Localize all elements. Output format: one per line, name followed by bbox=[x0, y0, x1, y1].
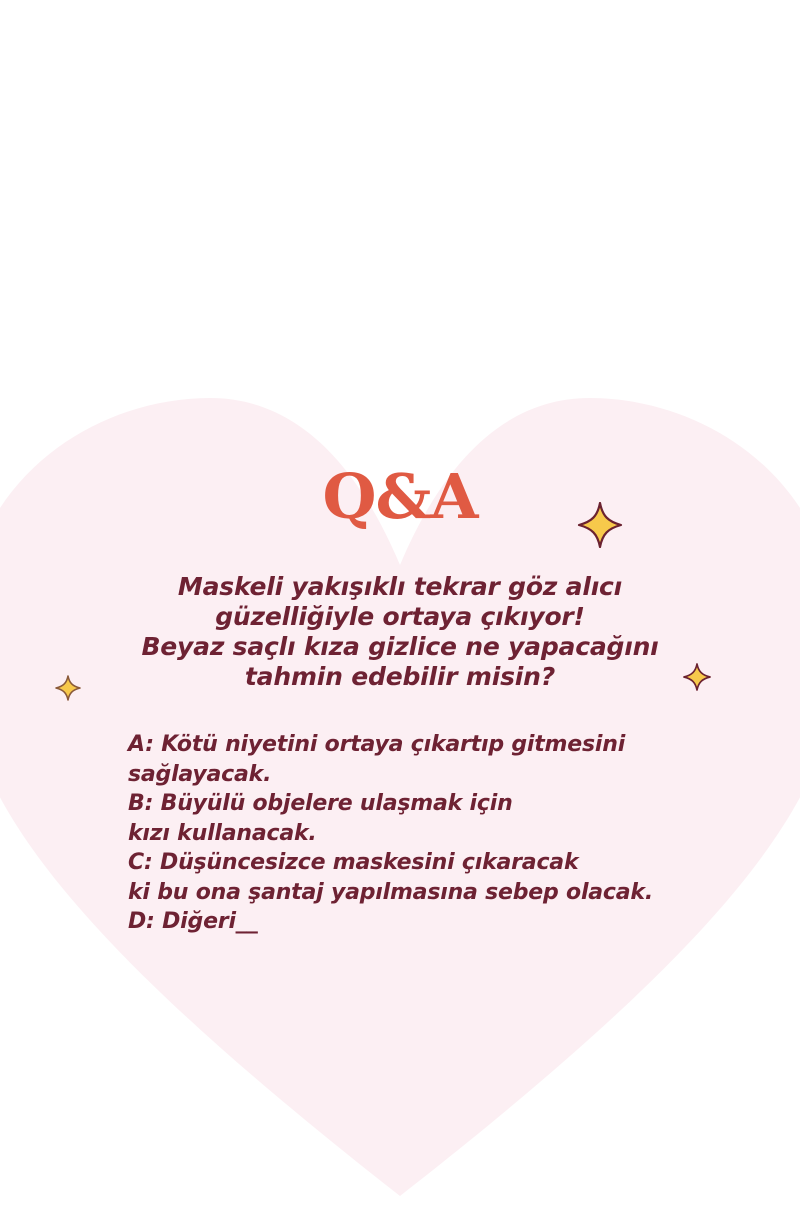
question-text: Maskeli yakışıklı tekrar göz alıcı güzel… bbox=[100, 572, 700, 692]
question-line-1: Maskeli yakışıklı tekrar göz alıcı bbox=[100, 572, 700, 602]
qa-poster: Q&A Maskeli yakışıklı tekrar göz alıcı g… bbox=[0, 0, 800, 1218]
answer-option-a-line-1: A: Kötü niyetini ortaya çıkartıp gitmesi… bbox=[128, 730, 728, 760]
answer-options-list: A: Kötü niyetini ortaya çıkartıp gitmesi… bbox=[128, 730, 728, 937]
answer-option-b-line-1: B: Büyülü objelere ulaşmak için bbox=[128, 789, 728, 819]
answer-option-c-line-2: ki bu ona şantaj yapılmasına sebep olaca… bbox=[128, 878, 728, 908]
poster-content: Q&A Maskeli yakışıklı tekrar göz alıcı g… bbox=[0, 0, 800, 1218]
page-title: Q&A bbox=[0, 466, 800, 528]
question-line-4: tahmin edebilir misin? bbox=[100, 662, 700, 692]
answer-option-b-line-2: kızı kullanacak. bbox=[128, 819, 728, 849]
answer-option-d: D: Diğeri__ bbox=[128, 907, 728, 937]
question-line-3: Beyaz saçlı kıza gizlice ne yapacağını bbox=[100, 632, 700, 662]
answer-option-a-line-2: sağlayacak. bbox=[128, 760, 728, 790]
question-line-2: güzelliğiyle ortaya çıkıyor! bbox=[100, 602, 700, 632]
answer-option-c-line-1: C: Düşüncesizce maskesini çıkaracak bbox=[128, 848, 728, 878]
